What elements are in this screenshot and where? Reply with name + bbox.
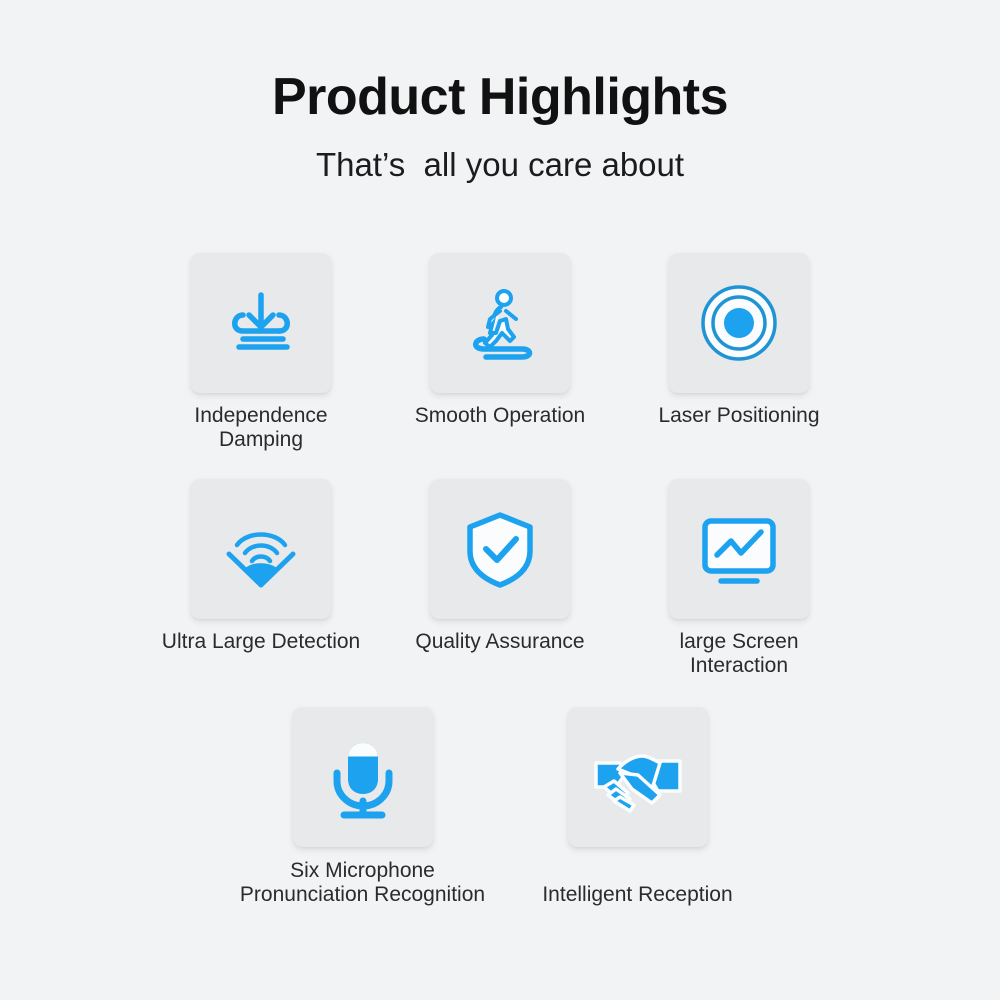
damping-arrow-icon	[213, 275, 309, 371]
feature-label: Laser Positioning	[624, 404, 854, 428]
feature-large-screen-interaction[interactable]: large Screen Interaction	[669, 479, 809, 678]
feature-card[interactable]	[568, 707, 708, 847]
page-subtitle: That’s all you care about	[0, 147, 1000, 183]
feature-card[interactable]	[430, 253, 570, 393]
feature-row-3: Six Microphone Pronunciation Recognition	[0, 707, 1000, 907]
header: Product Highlights That’s all you care a…	[0, 70, 1000, 183]
handshake-icon	[590, 729, 686, 825]
product-highlights-page: Product Highlights That’s all you care a…	[0, 0, 1000, 1000]
feature-quality-assurance[interactable]: Quality Assurance	[430, 479, 570, 654]
detection-waves-icon	[213, 501, 309, 597]
feature-row-1: Independence Damping	[0, 253, 1000, 452]
feature-card[interactable]	[191, 479, 331, 619]
feature-laser-positioning[interactable]: Laser Positioning	[669, 253, 809, 428]
feature-card[interactable]	[669, 479, 809, 619]
feature-label: Smooth Operation	[385, 404, 615, 428]
feature-independence-damping[interactable]: Independence Damping	[191, 253, 331, 452]
feature-card[interactable]	[430, 479, 570, 619]
feature-label: large Screen Interaction	[624, 630, 854, 678]
feature-label: Quality Assurance	[385, 630, 615, 654]
feature-smooth-operation[interactable]: Smooth Operation	[430, 253, 570, 428]
monitor-chart-icon	[691, 501, 787, 597]
microphone-icon	[315, 729, 411, 825]
feature-card[interactable]	[669, 253, 809, 393]
feature-row-2: Ultra Large Detection Quality Assurance	[0, 479, 1000, 678]
concentric-target-icon	[691, 275, 787, 371]
shield-check-icon	[452, 501, 548, 597]
feature-intelligent-reception[interactable]: Intelligent Reception	[568, 707, 708, 907]
feature-ultra-large-detection[interactable]: Ultra Large Detection	[191, 479, 331, 654]
feature-six-microphone-pronunciation-recognition[interactable]: Six Microphone Pronunciation Recognition	[293, 707, 433, 907]
feature-card[interactable]	[293, 707, 433, 847]
page-title: Product Highlights	[0, 70, 1000, 125]
feature-label: Ultra Large Detection	[136, 630, 386, 654]
feature-label: Independence Damping	[146, 404, 376, 452]
feature-label: Intelligent Reception	[523, 859, 753, 907]
feature-grid: Independence Damping	[0, 253, 1000, 907]
treadmill-runner-icon	[452, 275, 548, 371]
feature-card[interactable]	[191, 253, 331, 393]
feature-label: Six Microphone Pronunciation Recognition	[238, 859, 488, 907]
